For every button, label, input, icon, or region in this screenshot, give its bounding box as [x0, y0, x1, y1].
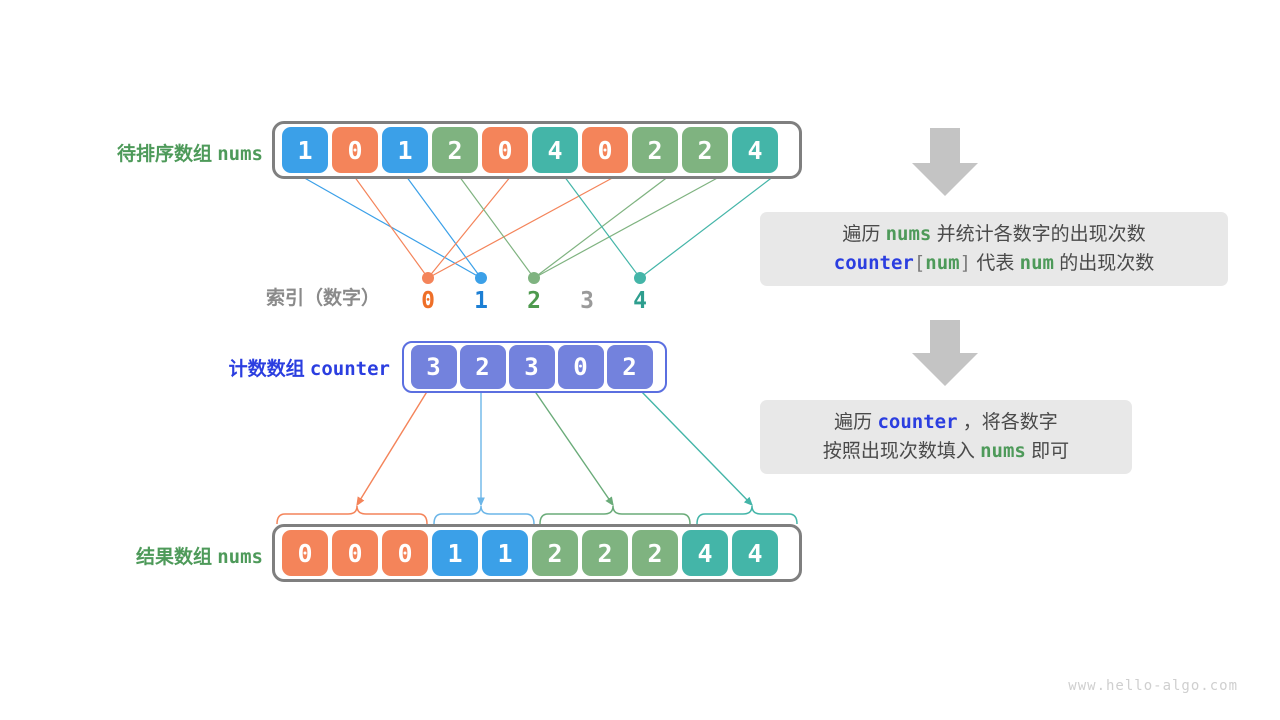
note1-l2-bracket-open: [	[914, 252, 925, 274]
note2-l2-code: nums	[980, 440, 1026, 462]
counter-cell: 3	[509, 345, 555, 389]
input-cell: 0	[332, 127, 378, 173]
result-group-braces	[277, 506, 797, 524]
note1-l2-code2: num	[925, 252, 959, 274]
result-cell: 0	[382, 530, 428, 576]
result-cell: 2	[532, 530, 578, 576]
result-cell: 4	[732, 530, 778, 576]
index-row-label: 索引（数字）	[266, 288, 371, 310]
counter-array-label-cn: 计数数组	[229, 359, 305, 380]
watermark: www.hello-algo.com	[1068, 678, 1238, 694]
counter-array: 3 2 3 0 2	[402, 341, 667, 393]
input-cell: 1	[382, 127, 428, 173]
index-dots	[422, 272, 646, 284]
counter-array-label-code: counter	[310, 358, 390, 380]
note-step-2: 遍历 counter ，将各数字 按照出现次数填入 nums 即可	[760, 400, 1132, 474]
step-arrow-1	[912, 128, 978, 196]
diagram-canvas: 待排序数组 nums 1 0 1 2 0 4 0 2 2 4 索引（数字） 0 …	[0, 0, 1280, 720]
result-array-label: 结果数组 nums	[60, 542, 263, 569]
note2-l1-pre: 遍历	[834, 412, 877, 433]
input-cell: 2	[432, 127, 478, 173]
counter-array-label: 计数数组 counter	[150, 354, 390, 381]
nums-to-index-lines	[301, 176, 774, 278]
counter-cell: 0	[558, 345, 604, 389]
note2-l1-code: counter	[877, 411, 957, 433]
result-cell: 0	[332, 530, 378, 576]
note1-l2-post: 的出现次数	[1054, 253, 1154, 274]
counter-cell: 2	[460, 345, 506, 389]
result-cell: 4	[682, 530, 728, 576]
index-value: 0	[408, 288, 448, 314]
input-cell: 4	[532, 127, 578, 173]
input-cell: 2	[682, 127, 728, 173]
note1-l2-code: counter	[834, 252, 914, 274]
result-cell: 0	[282, 530, 328, 576]
input-array-label: 待排序数组 nums	[48, 139, 263, 166]
note1-l2-bracket-close: ]	[960, 252, 971, 274]
note1-l2-code3: num	[1020, 252, 1054, 274]
index-value: 4	[620, 288, 660, 314]
counter-to-result-arrows	[357, 390, 752, 505]
note1-l1-code: nums	[886, 223, 932, 245]
note2-l2-post: 即可	[1026, 441, 1069, 462]
input-array: 1 0 1 2 0 4 0 2 2 4	[272, 121, 802, 179]
note1-l1-post: 并统计各数字的出现次数	[931, 224, 1145, 245]
counter-cell: 2	[607, 345, 653, 389]
result-cell: 2	[582, 530, 628, 576]
note-step-2-line-1: 遍历 counter ，将各数字	[834, 408, 1058, 437]
note1-l1-pre: 遍历	[842, 224, 885, 245]
note-step-2-line-2: 按照出现次数填入 nums 即可	[823, 437, 1069, 466]
result-cell: 1	[482, 530, 528, 576]
index-row-label-text: 索引（数字）	[266, 288, 380, 309]
input-cell: 0	[482, 127, 528, 173]
input-cell: 4	[732, 127, 778, 173]
index-value: 3	[567, 288, 607, 314]
note-step-1-line-2: counter[num] 代表 num 的出现次数	[834, 249, 1154, 278]
counter-cell: 3	[411, 345, 457, 389]
index-value: 2	[514, 288, 554, 314]
result-array-label-code: nums	[217, 546, 263, 568]
note1-l2-mid: 代表	[971, 253, 1020, 274]
input-array-label-cn: 待排序数组	[117, 144, 212, 165]
result-cell: 1	[432, 530, 478, 576]
input-array-label-code: nums	[217, 143, 263, 165]
input-cell: 0	[582, 127, 628, 173]
result-array: 0 0 0 1 1 2 2 2 4 4	[272, 524, 802, 582]
index-value: 1	[461, 288, 501, 314]
result-cell: 2	[632, 530, 678, 576]
input-cell: 2	[632, 127, 678, 173]
input-cell: 1	[282, 127, 328, 173]
note-step-1: 遍历 nums 并统计各数字的出现次数 counter[num] 代表 num …	[760, 212, 1228, 286]
step-arrow-2	[912, 320, 978, 386]
note-step-1-line-1: 遍历 nums 并统计各数字的出现次数	[842, 220, 1145, 249]
note2-l2-pre: 按照出现次数填入	[823, 441, 980, 462]
note2-l1-post: ，将各数字	[958, 412, 1058, 433]
result-array-label-cn: 结果数组	[136, 547, 212, 568]
